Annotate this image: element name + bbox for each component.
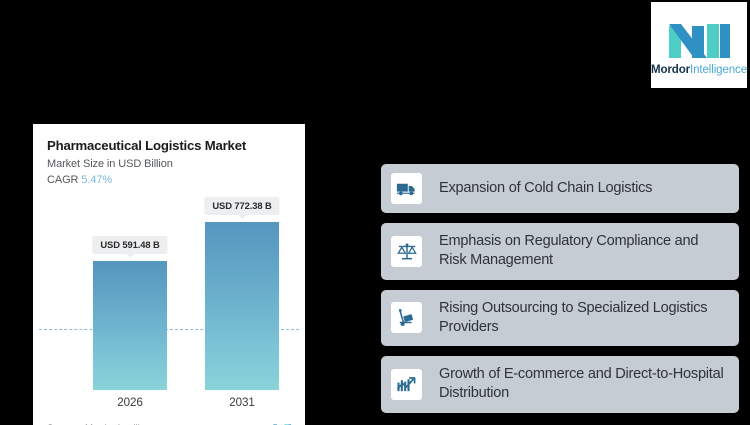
cagr-value: 5.47% — [81, 174, 112, 186]
chart-panel: Pharmaceutical Logistics Market Market S… — [33, 124, 305, 425]
mordor-m-logo-icon — [667, 16, 731, 60]
brand-logo: MordorIntelligence — [651, 2, 747, 88]
scales-icon — [391, 236, 422, 267]
cagr-label: CAGR — [47, 174, 78, 186]
driver-card-text: Emphasis on Regulatory Compliance and Ri… — [439, 232, 729, 271]
brand-wordmark: MordorIntelligence — [651, 65, 747, 77]
bar-2026 — [93, 261, 167, 390]
driver-card-text: Expansion of Cold Chain Logistics — [439, 179, 652, 198]
hand-truck-icon — [391, 302, 422, 333]
truck-icon — [391, 173, 422, 204]
chart-subtitle: Market Size in USD Billion — [47, 158, 291, 170]
value-label-2026: USD 591.48 B — [92, 236, 167, 255]
x-axis-labels: 2026 2031 — [33, 396, 305, 416]
driver-card-text: Rising Outsourcing to Specialized Logist… — [439, 299, 729, 338]
chart-title: Pharmaceutical Logistics Market — [47, 138, 291, 153]
driver-card-text: Growth of E-commerce and Direct-to-Hospi… — [439, 365, 729, 404]
bar-2031 — [205, 222, 279, 390]
x-tick-2031: 2031 — [229, 396, 254, 409]
value-label-2031: USD 772.38 B — [204, 197, 279, 216]
driver-card-ecommerce[interactable]: Growth of E-commerce and Direct-to-Hospi… — [381, 356, 739, 413]
x-tick-2026: 2026 — [117, 396, 142, 409]
plot-area: USD 591.48 B USD 772.38 B — [33, 200, 305, 390]
driver-card-list: Expansion of Cold Chain Logistics Emphas… — [381, 164, 739, 423]
chart-cagr: CAGR5.47% — [47, 174, 291, 186]
growth-chart-icon — [391, 369, 422, 400]
driver-card-outsourcing[interactable]: Rising Outsourcing to Specialized Logist… — [381, 290, 739, 347]
driver-card-cold-chain[interactable]: Expansion of Cold Chain Logistics — [381, 164, 739, 213]
slide-canvas: MordorIntelligence Pharmaceutical Logist… — [0, 0, 750, 425]
brand-word-primary: Mordor — [651, 64, 690, 76]
driver-card-regulatory[interactable]: Emphasis on Regulatory Compliance and Ri… — [381, 223, 739, 280]
brand-word-secondary: Intelligence — [690, 64, 747, 76]
